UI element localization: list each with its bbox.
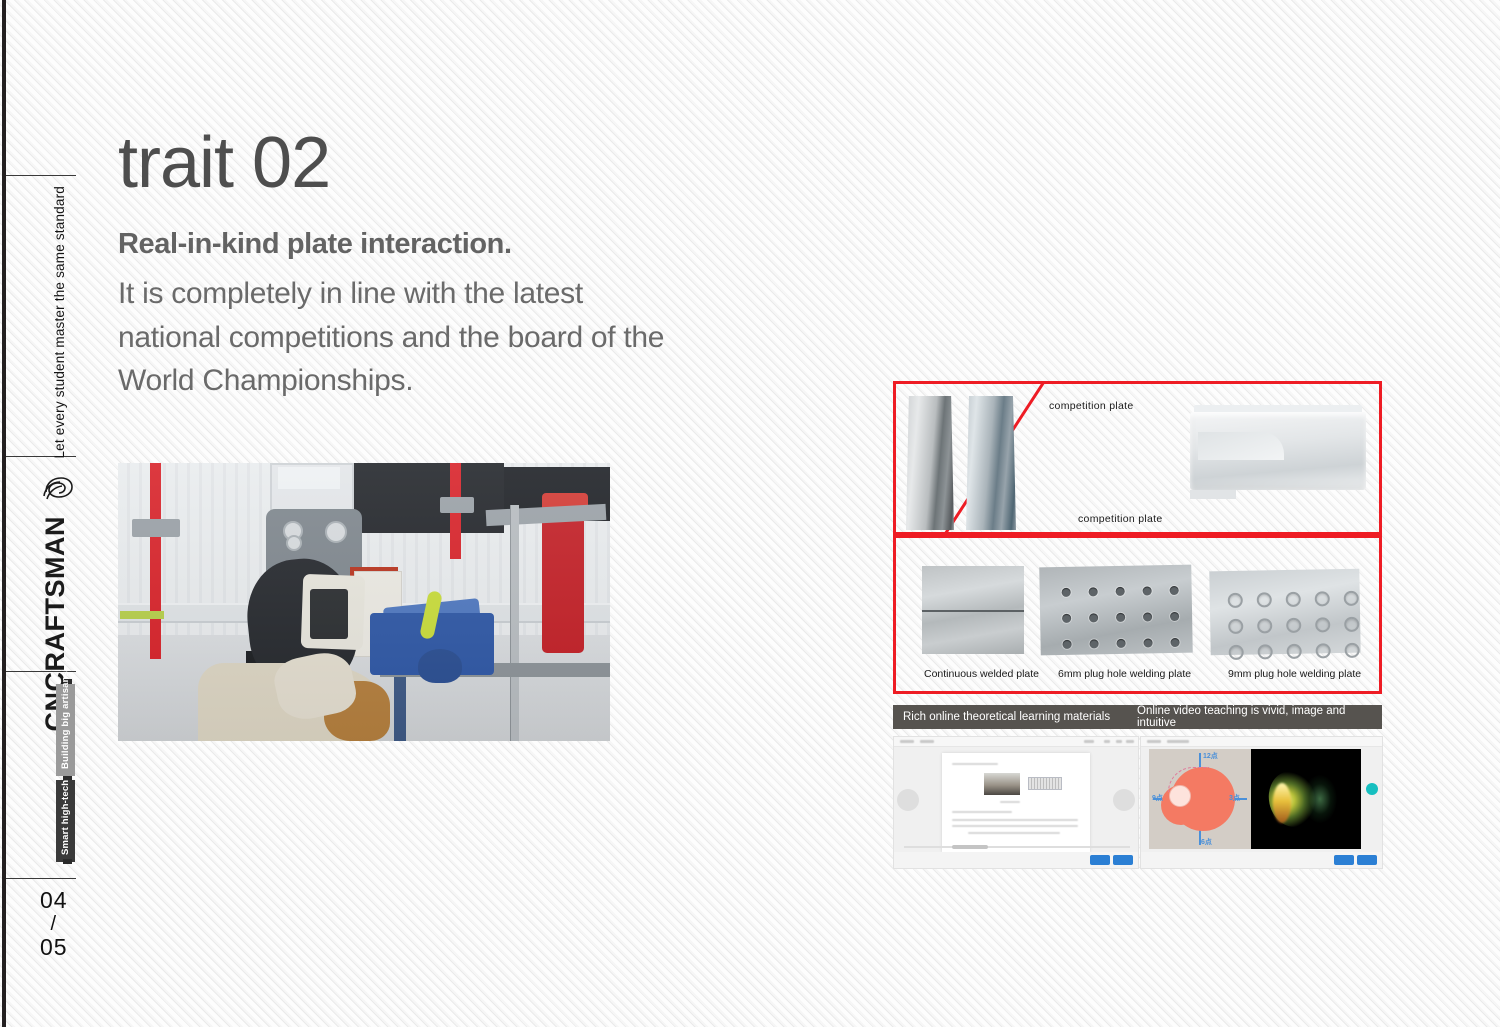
plug-hole [1315,591,1330,606]
competition-plate-image-1 [906,396,954,530]
doc-action-button-2[interactable] [1113,855,1133,865]
clock-label-6: 6点 [1201,837,1212,847]
plug-hole [1228,619,1243,634]
doc-embedded-diagram [1028,777,1062,790]
welding-video-frame [1251,749,1361,849]
doc-footer [894,852,1138,868]
caption-competition-plate-left: competition plate [1049,400,1133,412]
video-action-button-2[interactable] [1357,855,1377,865]
doc-toolbar [894,737,1138,747]
video-footer [1141,852,1382,868]
rail-divider-4 [6,878,76,879]
left-rail: Let every student master the same standa… [0,0,102,1027]
clock-position-diagram: 12点 3点 6点 9点 [1149,749,1251,849]
welder-photo [118,463,610,741]
plug-hole [1144,638,1153,647]
page-number-current: 04 [40,888,68,913]
page-number-total: 05 [40,935,68,960]
competition-plate-image-2 [966,396,1016,530]
plug-hole [1116,613,1125,622]
plug-hole [1257,618,1272,633]
caption-competition-plate-right: competition plate [1078,513,1162,525]
plug-hole [1286,618,1301,633]
plug-hole [1170,638,1179,647]
plug-hole [1116,587,1125,596]
plug-hole [1257,592,1272,607]
plug-hole-9mm-plate-image [1209,569,1360,656]
plug-hole [1286,592,1301,607]
badge-smart-high-tech: Smart high-tech [56,780,75,862]
swirl-logo-icon [42,474,74,504]
caption-continuous-welded-plate: Continuous welded plate [924,668,1039,680]
caption-9mm-plug-hole-welding-plate: 9mm plug hole welding plate [1228,668,1361,680]
screenshot-document-viewer [893,736,1139,869]
plug-hole [1143,586,1152,595]
competition-plate-image-3 [1190,412,1366,490]
plug-hole [1170,586,1179,595]
plug-hole [1063,640,1072,649]
subtitle-lead: Real-in-kind plate interaction. [118,228,512,261]
doc-page-canvas [942,753,1090,852]
page-title: trait 02 [118,127,330,199]
bar-online-video: Online video teaching is vivid, image an… [1137,705,1382,729]
plug-hole [1344,591,1359,606]
subtitle-body: It is completely in line with the latest… [118,272,678,403]
plug-hole [1117,639,1126,648]
doc-action-button-1[interactable] [1090,855,1110,865]
doc-scroll-track[interactable] [904,846,1130,848]
page-number-separator: / [40,913,68,935]
plug-hole [1062,588,1071,597]
clock-label-3: 3点 [1229,793,1240,803]
brochure-page: Let every student master the same standa… [0,0,1500,1027]
continuous-welded-plate-image [922,566,1024,654]
clock-label-9: 9点 [1152,793,1163,803]
rail-edge-bar [2,0,6,1027]
badge-pin-bottom [63,859,72,864]
page-number: 04 / 05 [40,888,68,961]
plug-hole [1090,639,1099,648]
screenshot-video-teaching: 12点 3点 6点 9点 [1140,736,1383,869]
doc-embedded-photo [984,773,1020,795]
doc-scroll-thumb[interactable] [952,845,988,849]
rail-tagline: Let every student master the same standa… [52,186,67,459]
video-sound-icon[interactable] [1366,783,1378,795]
plug-hole [1170,612,1179,621]
caption-6mm-plug-hole-welding-plate: 6mm plug hole welding plate [1058,668,1191,680]
doc-next-button[interactable] [1113,789,1135,811]
plug-hole [1344,617,1359,632]
rail-divider-1 [6,175,76,176]
plug-hole [1062,614,1071,623]
bar-online-materials: Rich online theoretical learning materia… [893,705,1147,729]
doc-prev-button[interactable] [897,789,919,811]
plug-hole [1143,612,1152,621]
video-toolbar [1141,737,1382,747]
video-action-button-1[interactable] [1334,855,1354,865]
plug-hole [1089,613,1098,622]
badge-building-big-artisans: Building big artisans [56,684,75,776]
plug-hole [1315,617,1330,632]
plug-hole-6mm-plate-image [1039,565,1193,656]
plug-hole [1228,593,1243,608]
plug-hole [1089,587,1098,596]
clock-label-12: 12点 [1203,751,1218,761]
